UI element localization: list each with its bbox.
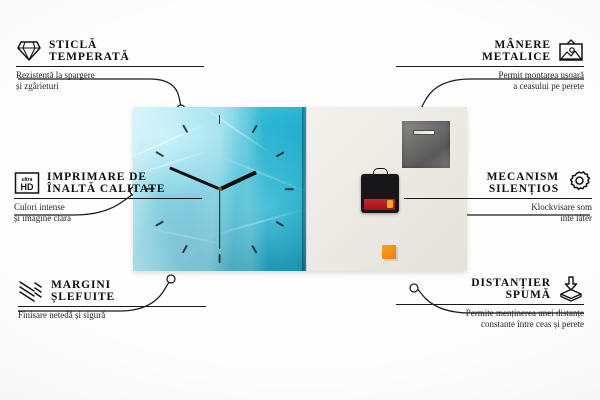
feature-description: Finisare netedă și sigură (18, 310, 206, 321)
clock-tick (285, 188, 294, 190)
press-down-pad-icon (558, 276, 584, 302)
product-infographic: STICLĂ TEMPERATĂ Rezistentă la spargere … (0, 0, 600, 400)
ultra-hd-icon: ultra HD (14, 170, 40, 196)
polished-edges-icon (18, 278, 44, 304)
feature-title: DISTANȚIER SPUMĂ (471, 277, 551, 302)
feature-callout-glass: STICLĂ TEMPERATĂ Rezistentă la spargere … (16, 38, 204, 92)
feature-callout-edges: MARGINI ȘLEFUITE Finisare netedă și sigu… (18, 278, 206, 321)
battery-terminal (387, 200, 393, 208)
feature-callout-silent: MECANISM SILENȚIOS Klockvisare som inte … (404, 170, 592, 224)
feature-title: STICLĂ TEMPERATĂ (49, 39, 130, 64)
clock-center-hub (218, 187, 222, 191)
feature-description: Klockvisare som inte låter (404, 202, 592, 224)
feature-title: MÂNERE METALICE (482, 39, 551, 64)
clock-tick (219, 254, 221, 263)
feature-title: MECANISM SILENȚIOS (487, 171, 559, 196)
clock-mechanism (361, 174, 399, 213)
feature-header: MÂNERE METALICE (396, 38, 584, 64)
clock-second-hand (219, 189, 220, 249)
picture-frame-hanger-icon (558, 38, 584, 64)
feature-header: ultra HD IMPRIMARE DE ÎNALTĂ CALITATE (14, 170, 202, 196)
metal-hanger-plate (402, 121, 450, 168)
svg-text:HD: HD (21, 182, 34, 192)
gear-icon (566, 170, 592, 196)
feature-callout-print: ultra HD IMPRIMARE DE ÎNALTĂ CALITATE Cu… (14, 170, 202, 224)
feature-divider (404, 198, 592, 199)
foam-spacer-pad (382, 245, 396, 259)
hanger-slot (413, 130, 435, 135)
mechanism-hanging-loop (373, 168, 388, 177)
clock-tick (219, 115, 221, 124)
diamond-icon (16, 38, 42, 64)
battery (364, 199, 395, 210)
feature-header: STICLĂ TEMPERATĂ (16, 38, 204, 64)
feature-divider (16, 66, 204, 67)
feature-callout-handles: MÂNERE METALICE Permit montarea ușoară a… (396, 38, 584, 92)
feature-divider (396, 66, 584, 67)
feature-description: Rezistentă la spargere și zgârieturi (16, 70, 204, 92)
feature-description: Permit montarea ușoară a ceasului pe per… (396, 70, 584, 92)
feature-divider (396, 304, 584, 305)
feature-description: Culori intense și imagine clară (14, 202, 202, 224)
feature-header: MARGINI ȘLEFUITE (18, 278, 206, 304)
feature-callout-spacer: DISTANȚIER SPUMĂ Permite menținerea unei… (396, 276, 584, 330)
feature-description: Permite menținerea unei distanțe constan… (396, 308, 584, 330)
feature-header: MECANISM SILENȚIOS (404, 170, 592, 196)
feature-title: MARGINI ȘLEFUITE (51, 279, 115, 304)
feature-title: IMPRIMARE DE ÎNALTĂ CALITATE (47, 171, 165, 196)
feature-divider (18, 306, 206, 307)
feature-header: DISTANȚIER SPUMĂ (396, 276, 584, 302)
feature-divider (14, 198, 202, 199)
